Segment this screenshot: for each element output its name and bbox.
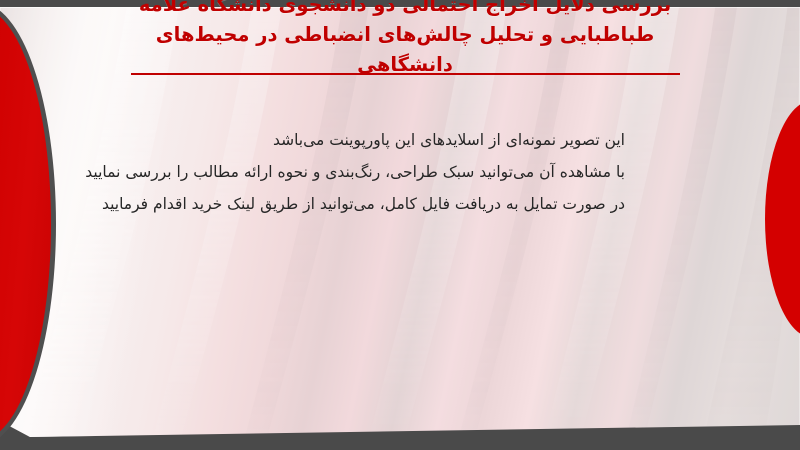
slide-canvas: بررسی دلایل اخراج احتمالی دو دانشجوی دان… (0, 0, 800, 450)
slide-body: این تصویر نمونه‌ای از اسلایدهای این پاور… (155, 124, 625, 220)
body-line-3: در صورت تمایل به دریافت فایل کامل، می‌تو… (155, 188, 625, 220)
title-divider-rule (131, 73, 680, 75)
body-line-1: این تصویر نمونه‌ای از اسلایدهای این پاور… (155, 124, 625, 156)
slide-title: بررسی دلایل اخراج احتمالی دو دانشجوی دان… (110, 0, 700, 80)
body-line-2: با مشاهده آن می‌توانید سبک طراحی، رنگ‌بن… (155, 156, 625, 188)
